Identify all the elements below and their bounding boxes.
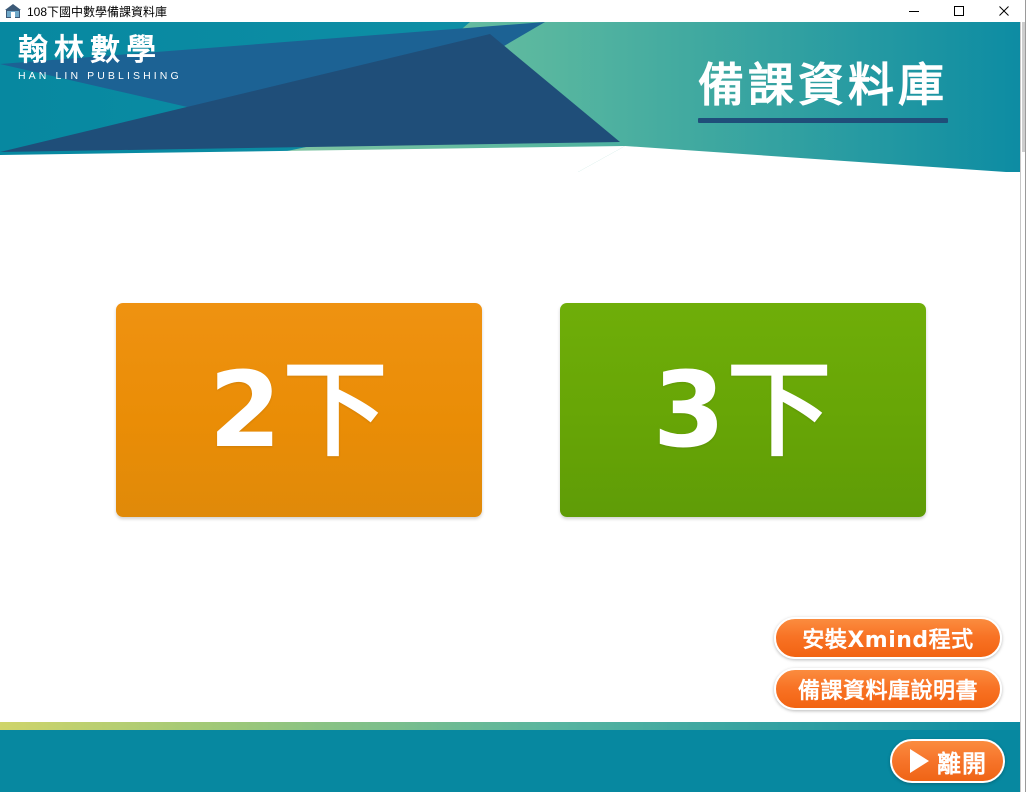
footer-gradient-strip xyxy=(0,722,1020,730)
install-xmind-label: 安裝Xmind程式 xyxy=(802,622,973,654)
close-icon[interactable] xyxy=(981,0,1026,22)
header-banner: 翰林數學 HAN LIN PUBLISHING 備課資料庫 xyxy=(0,22,1020,182)
exit-label: 離開 xyxy=(937,744,987,779)
title-bar: 108下國中數學備課資料庫 xyxy=(0,0,1026,23)
maximize-icon[interactable] xyxy=(936,0,981,22)
page-title-underline xyxy=(698,118,948,123)
app-icon xyxy=(5,3,21,19)
grade-label: 2下 xyxy=(209,358,389,462)
footer-bar: 離開 xyxy=(0,730,1020,792)
manual-button[interactable]: 備課資料庫說明書 xyxy=(774,668,1002,710)
page-title-text: 備課資料庫 xyxy=(698,59,948,112)
utility-links: 安裝Xmind程式 備課資料庫說明書 xyxy=(774,617,1002,710)
page-title: 備課資料庫 xyxy=(698,59,948,123)
manual-label: 備課資料庫說明書 xyxy=(798,673,978,705)
window-title: 108下國中數學備課資料庫 xyxy=(27,3,167,20)
grade-button-3xia[interactable]: 3下 xyxy=(560,303,926,517)
install-xmind-button[interactable]: 安裝Xmind程式 xyxy=(774,617,1002,659)
exit-button[interactable]: 離開 xyxy=(890,739,1005,783)
grade-label: 3下 xyxy=(653,358,833,462)
window-controls xyxy=(891,0,1026,22)
play-triangle-icon xyxy=(910,749,929,773)
grade-button-row: 2下 3下 xyxy=(0,303,1020,517)
grade-button-2xia[interactable]: 2下 xyxy=(116,303,482,517)
application-window: 108下國中數學備課資料庫 xyxy=(0,0,1026,792)
minimize-icon[interactable] xyxy=(891,0,936,22)
